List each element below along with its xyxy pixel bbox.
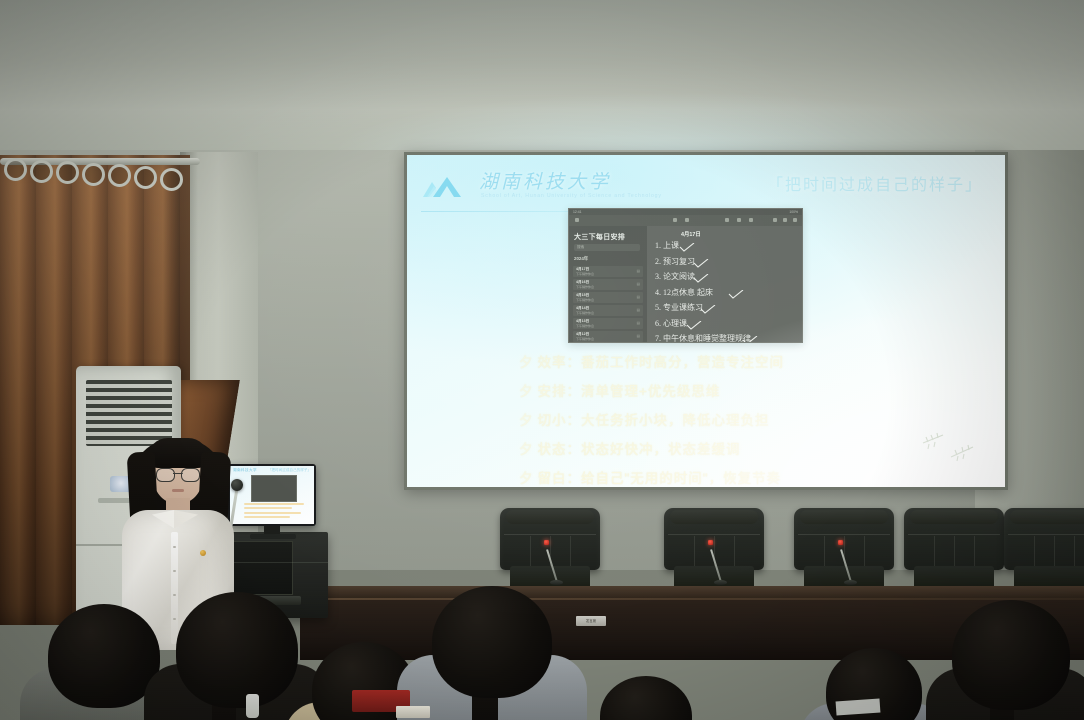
bullet-marker-icon: 夕 [519,471,534,486]
notebook-title: 大三下每日安排 [574,232,625,242]
notes-entry-thumb-icon: ▤ [637,334,640,338]
note-canvas: 4月17日 1. 上课2. 预习复习3. 论文阅读4. 12点休息 起床5. 专… [647,226,802,342]
chair-pleat [734,536,735,568]
desk-nameplate: 发言席 [576,616,606,626]
checklist-item-text: 5. 专业课练习 [655,302,703,313]
chair-pleat [864,536,865,568]
bullet-text: 状态：状态好快冲，状态差缓调 [538,442,741,457]
bullet-marker-icon: 夕 [519,355,534,370]
note-date-heading: 4月17日 [681,230,701,238]
monitor-embedded-screenshot [251,475,297,502]
bullet-text: 效率：番茄工作时高分，营造专注空间 [538,355,785,370]
notes-entry-preview: 下午稍作休息 [576,272,594,276]
notes-entry-row[interactable]: 4月13日下午稍作休息▤ [573,318,643,329]
chair-headrest [670,510,758,524]
notes-entry-preview: 下午稍作休息 [576,298,594,302]
chair-seam [908,534,1000,535]
toolbar-icon [725,218,729,222]
desk-microphone-tip [708,540,713,545]
desk-microphone-tip [544,540,549,545]
toolbar-icon [737,218,741,222]
notes-entry-thumb-icon: ▤ [637,269,640,273]
checklist-item-text: 3. 论文阅读 [655,271,695,282]
desk-nameplate-text: 发言席 [576,618,606,623]
checkmark-icon [693,255,709,264]
notes-entry-preview: 下午稍作休息 [576,285,594,289]
desk-microphone-tip [838,540,843,545]
university-logo: 湖南科技大学 School of Art, Hunan University o… [421,167,691,207]
desk-microphone-base [714,580,727,585]
checkmark-icon [686,317,702,326]
monitor-base [250,534,296,539]
notes-year-group: 2024年 [574,256,588,262]
university-logo-name: 湖南科技大学 [479,167,611,194]
notes-sidebar: 大三下每日安排 搜索 2024年 4月17日下午稍作休息▤4月16日下午稍作休息… [569,226,647,342]
audience-head [952,600,1070,710]
chair-pleat [1074,536,1075,568]
chair-pleat [974,536,975,568]
desk-microphone-base [844,580,857,585]
toolbar-icon [793,218,797,222]
desk-microphone-base [550,580,563,585]
checkmark-icon [700,301,716,310]
bullet-marker-icon: 夕 [519,384,534,399]
notes-entry-preview: 下午稍作休息 [576,337,594,341]
audience-head [48,604,160,708]
projected-slide: 湖南科技大学 School of Art, Hunan University o… [407,155,1005,487]
notes-search-placeholder: 搜索 [577,245,584,250]
presenter-hair-fringe [148,438,208,468]
notebook [396,706,430,718]
chair-seam [504,534,596,535]
bullet-marker-icon: 夕 [519,413,534,428]
notes-entry-row[interactable]: 4月12日下午稍作休息▤ [573,331,643,342]
monitor-bullet-lines [244,503,309,521]
notes-entry-thumb-icon: ▤ [637,308,640,312]
slide-bullet-1: 夕效率：番茄工作时高分，营造专注空间 [519,351,987,371]
toolbar-icon [685,218,689,222]
checklist-item-text: 6. 心理课 [655,318,687,329]
chair-headrest [506,510,594,524]
presenter-mouth [172,489,184,492]
presenter-pin-badge [200,550,206,556]
audience-head [600,676,692,720]
toolbar-icon [575,218,579,222]
leaf-sprig-decoration [917,427,989,471]
notes-entry-thumb-icon: ▤ [637,295,640,299]
chair-seam [668,534,760,535]
chair-seam [798,534,890,535]
notes-entry-row[interactable]: 4月15日下午稍作休息▤ [573,292,643,303]
checkmark-icon [742,332,758,341]
monitor-bullet-line [244,516,290,518]
eyeglass-lens-right [181,468,200,482]
ceiling [0,0,1084,152]
curtain-ring [4,158,27,181]
bullet-text: 留白：给自己"无用的时间"，恢复节奏 [538,471,782,486]
toolbar-icon [773,218,777,222]
checklist-item-text: 4. 12点休息 起床 [655,287,713,298]
slide-bullet-3: 夕切小：大任务折小块，降低心理负担 [519,409,987,429]
chair-headrest [800,510,888,524]
curtain-rod [0,158,200,165]
university-logo-subtitle: School of Art, Hunan University of Scien… [481,193,662,199]
shirt-button-placket [171,532,178,644]
checkmark-icon [728,286,744,295]
chair-headrest [910,510,998,524]
monitor-bullet-line [244,503,304,505]
notes-search-field[interactable]: 搜索 [574,244,640,251]
curtain-ring [82,163,105,186]
chair-seam [1008,534,1084,535]
lecture-room-photo: 湖南科技大学 School of Art, Hunan University o… [0,0,1084,720]
notes-entry-thumb-icon: ▤ [637,282,640,286]
checkmark-icon [693,270,709,279]
notes-entry-row[interactable]: 4月14日下午稍作休息▤ [573,305,643,316]
notes-entry-preview: 下午稍作休息 [576,311,594,315]
notes-toolbar [569,215,802,226]
bullet-marker-icon: 夕 [519,442,534,457]
checkmark-icon [679,239,695,248]
projection-screen-frame: 湖南科技大学 School of Art, Hunan University o… [404,152,1008,490]
chair-pleat [954,536,955,568]
checklist-item-text: 1. 上课 [655,240,679,251]
slide-title: 「把时间过成自己的样子」 [767,171,983,195]
shirt-button [173,594,175,596]
bullet-text: 安排：清单管理+优先级思维 [538,384,721,399]
embedded-notes-screenshot: 12:41 100% 大三下每日安排 搜索 [568,208,803,343]
chair-pleat [570,536,571,568]
notes-entry-preview: 下午稍作休息 [576,324,594,328]
shirt-button [173,570,175,572]
chair-pleat [694,536,695,568]
bullet-text: 切小：大任务折小块，降低心理负担 [538,413,770,428]
notes-entry-row[interactable]: 4月16日下午稍作休息▤ [573,279,643,290]
chair-pleat [530,536,531,568]
notes-entry-row[interactable]: 4月17日下午稍作休息▤ [573,266,643,277]
presenter-eyeglasses [156,468,200,480]
water-bottle [246,694,259,718]
checklist-item-text: 7. 中午休息和睡觉整理规律 [655,333,751,343]
chair-pleat [934,536,935,568]
chair-pleat [824,536,825,568]
conference-chair [1000,508,1084,594]
eyeglass-lens-left [156,468,175,482]
toolbar-icon [749,218,753,222]
checklist-item-text: 2. 预习复习 [655,256,695,267]
conference-chair [900,508,1008,594]
slide-bullet-2: 夕安排：清单管理+优先级思维 [519,380,987,400]
notes-entry-thumb-icon: ▤ [637,321,640,325]
monitor-title-text: 「把时间过成自己的样子」 [268,468,311,473]
toolbar-icon [783,218,787,222]
shirt-button [173,618,175,620]
curtain-ring [160,168,183,191]
curtain-ring [134,166,157,189]
chair-pleat [1034,536,1035,568]
monitor-bullet-line [244,507,292,509]
chair-headrest [1010,510,1084,524]
curtain-ring [30,160,53,183]
status-battery: 100% [789,210,798,214]
toolbar-icon [673,218,677,222]
audience-head [176,592,298,708]
monitor-bullet-line [244,512,301,514]
status-time: 12:41 [573,210,582,214]
shirt-button [173,546,175,548]
mountain-logo-icon [421,173,473,199]
chair-pleat [1054,536,1055,568]
audience-head [432,586,552,698]
